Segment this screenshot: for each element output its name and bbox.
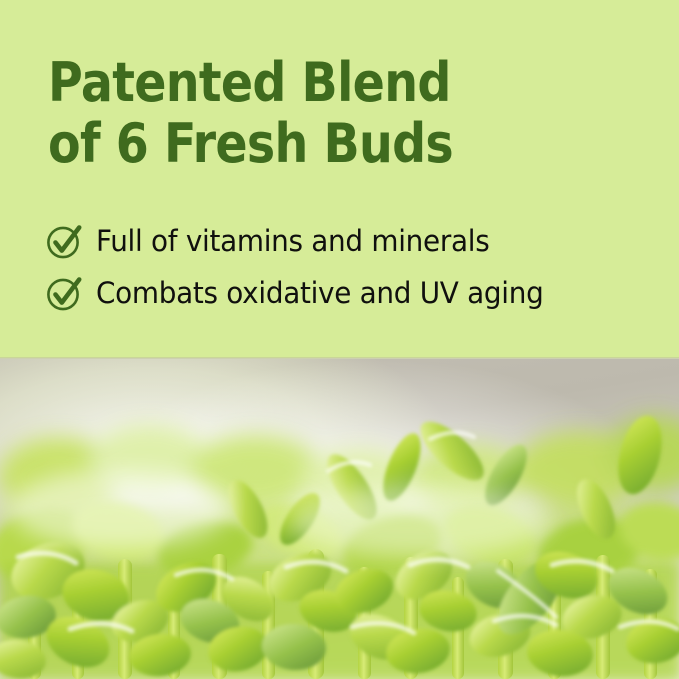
list-item: Full of vitamins and minerals bbox=[44, 215, 664, 267]
page-title: Patented Blend of 6 Fresh Buds bbox=[48, 52, 576, 174]
list-item: Combats oxidative and UV aging bbox=[44, 267, 664, 319]
check-circle-icon bbox=[44, 221, 84, 261]
list-item-label: Combats oxidative and UV aging bbox=[96, 279, 543, 308]
check-circle-icon bbox=[44, 273, 84, 313]
feature-list: Full of vitamins and minerals Combats ox… bbox=[44, 215, 664, 319]
sprout-photograph bbox=[0, 359, 679, 679]
product-banner: Patented Blend of 6 Fresh Buds Full of v… bbox=[0, 0, 679, 679]
list-item-label: Full of vitamins and minerals bbox=[96, 227, 489, 256]
headline-panel: Patented Blend of 6 Fresh Buds Full of v… bbox=[0, 0, 679, 359]
